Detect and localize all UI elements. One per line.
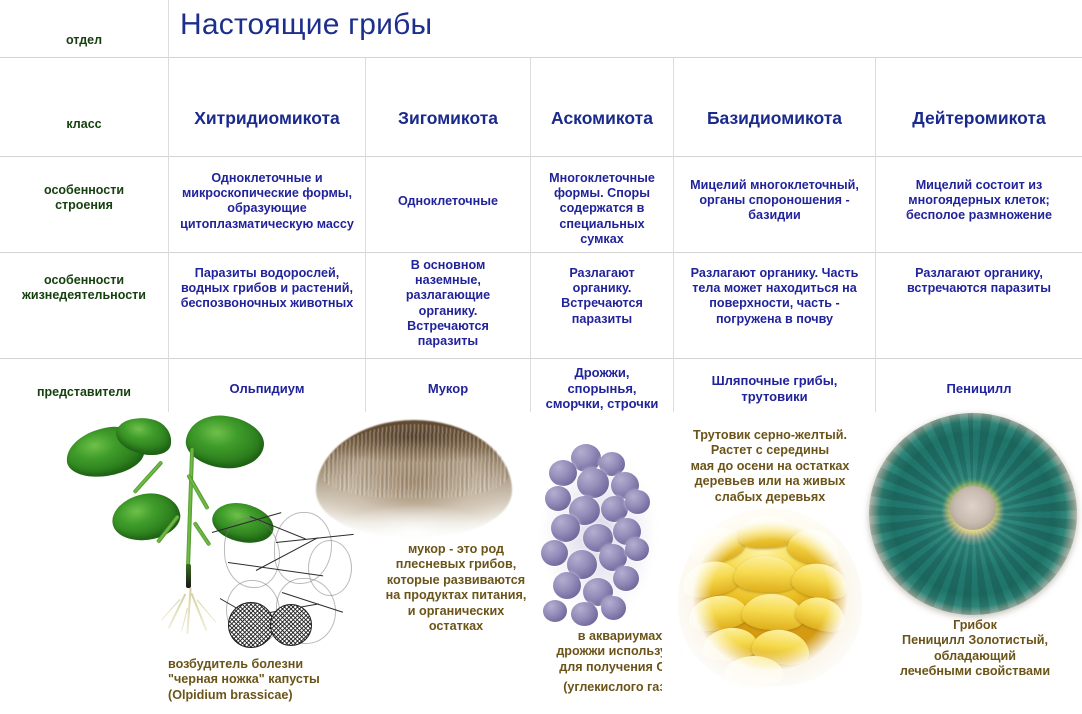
column-header-deuteromycota: Дейтеромикота <box>877 108 1081 129</box>
row-divider-division <box>0 57 1082 58</box>
caption-penicillium: Грибок Пеницилл Золотистый, обладающий л… <box>868 618 1082 680</box>
cell-structure-basidiomycota: Мицелий многоклеточный, органы спороноше… <box>681 178 868 224</box>
col-divider-4 <box>875 58 876 412</box>
caption-mucor-line4: на продуктах питания, <box>368 588 544 603</box>
row-label-division: отдел <box>0 33 168 48</box>
caption-penicillium-line1: Грибок <box>868 618 1082 633</box>
caption-mucor-line5: и органических <box>368 604 544 619</box>
caption-olpidium: возбудитель болезни "черная ножка" капус… <box>168 657 398 703</box>
column-header-chytridiomycota: Хитридиомикота <box>170 108 364 129</box>
caption-mucor-line6: остатках <box>368 619 544 634</box>
representative-chytridiomycota: Ольпидиум <box>176 381 358 397</box>
cell-activity-deuteromycota: Разлагают органику, встречаются паразиты <box>895 266 1063 296</box>
representative-deuteromycota: Пеницилл <box>886 381 1072 397</box>
col-divider-labels <box>168 0 169 412</box>
yeast-cells-micrograph <box>541 442 661 628</box>
representative-basidiomycota: Шляпочные грибы, трутовики <box>681 373 868 404</box>
row-divider-activity <box>0 358 1082 359</box>
cell-activity-ascomycota: Разлагают органику. Встречаются паразиты <box>544 266 660 327</box>
column-header-ascomycota: Аскомикота <box>532 108 672 129</box>
row-label-representatives: представители <box>0 385 168 400</box>
caption-olpidium-line2: "черная ножка" капусты <box>168 672 398 687</box>
cell-structure-chytridiomycota: Одноклеточные и микроскопические формы, … <box>176 171 358 232</box>
col-divider-2 <box>530 58 531 412</box>
caption-mucor-line3: которые развиваются <box>368 573 544 588</box>
caption-penicillium-line4: лечебными свойствами <box>868 664 1082 679</box>
caption-bracket-line2: Растет с середины <box>672 443 868 458</box>
representative-zygomycota: Мукор <box>374 381 522 397</box>
caption-bracket-line3: мая до осени на остатках <box>672 459 868 474</box>
row-label-activity-line2: жизнедеятельности <box>0 288 168 303</box>
caption-yeast-line3-text: для получения CO <box>559 660 675 674</box>
cell-activity-chytridiomycota: Паразиты водорослей, водных грибов и рас… <box>172 266 362 312</box>
row-label-class: класс <box>0 117 168 132</box>
row-divider-structure <box>0 252 1082 253</box>
cell-structure-deuteromycota: Мицелий состоит из многоядерных клеток; … <box>886 178 1072 224</box>
caption-bracket-line4: деревьев или на живых <box>672 474 868 489</box>
column-header-zygomycota: Зигомикота <box>367 108 529 129</box>
caption-olpidium-line1: возбудитель болезни <box>168 657 398 672</box>
representative-ascomycota: Дрожжи, спорынья, сморчки, строчки <box>545 365 659 412</box>
page-title: Настоящие грибы <box>180 8 432 42</box>
caption-mucor-line1: мукор - это род <box>368 542 544 557</box>
caption-olpidium-line3: (Olpidium brassicae) <box>168 688 398 703</box>
col-divider-1 <box>365 58 366 412</box>
cell-structure-ascomycota: Многоклеточные формы. Споры содержатся в… <box>538 171 666 247</box>
caption-bracket-fungus: Трутовик серно-желтый. Растет с середины… <box>672 428 868 505</box>
caption-bracket-line1: Трутовик серно-желтый. <box>672 428 868 443</box>
caption-bracket-line5: слабых деревьях <box>672 490 868 505</box>
fungi-comparison-table: Настоящие грибы отдел класс особенности … <box>0 0 1082 714</box>
cell-activity-zygomycota: В основном наземные, разлагающие органик… <box>382 258 514 349</box>
cell-activity-basidiomycota: Разлагают органику. Часть тела может нах… <box>681 266 868 327</box>
caption-mucor: мукор - это род плеcневых грибов, которы… <box>368 542 544 634</box>
column-header-basidiomycota: Базидиомикота <box>675 108 874 129</box>
caption-penicillium-line2: Пеницилл Золотистый, <box>868 633 1082 648</box>
row-divider-class <box>0 156 1082 157</box>
caption-penicillium-line3: обладающий <box>868 649 1082 664</box>
caption-mucor-line2: плеcневых грибов, <box>368 557 544 572</box>
col-divider-3 <box>673 58 674 412</box>
sulphur-shelf-fungus-photo <box>672 498 868 694</box>
cabbage-seedling-and-olpidium-diagram <box>60 412 350 662</box>
row-label-structure-line1: особенности <box>0 183 168 198</box>
cell-structure-zygomycota: Одноклеточные <box>374 194 522 209</box>
row-label-activity-line1: особенности <box>0 273 168 288</box>
row-label-structure-line2: строения <box>0 198 168 213</box>
